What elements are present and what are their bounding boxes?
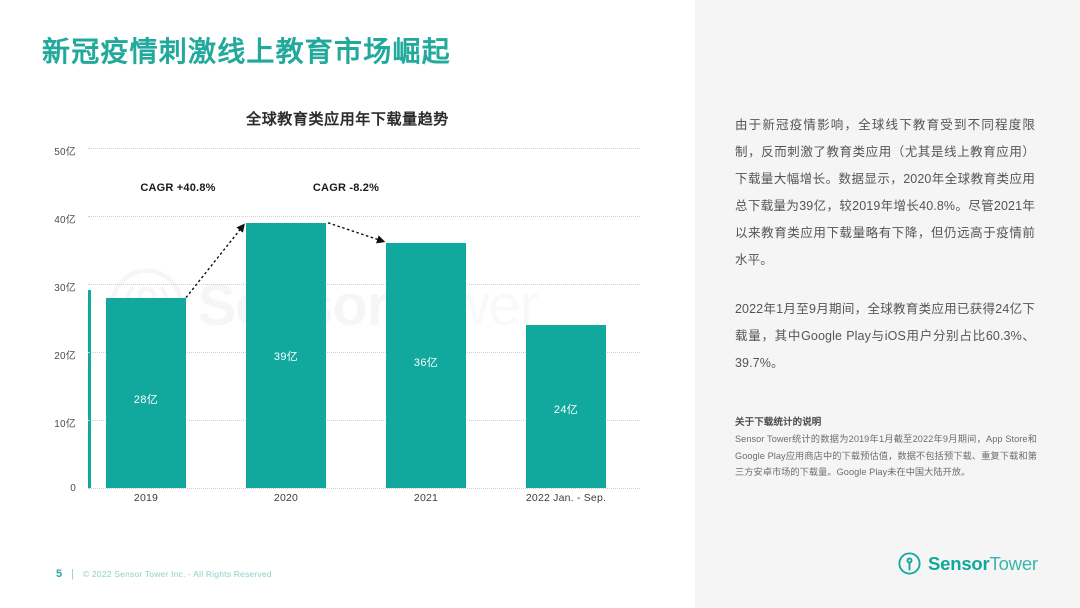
cagr-connector-arrows	[88, 148, 640, 488]
cagr-annotation-2019-2020: CAGR +40.8%	[98, 182, 258, 194]
y-tick-label: 10亿	[30, 415, 76, 430]
sensor-tower-logo-icon	[898, 552, 921, 575]
right-side-panel: 由于新冠疫情影响，全球线下教育受到不同程度限制，反而刺激了教育类应用（尤其是线上…	[695, 0, 1080, 608]
y-tick-label: 20亿	[30, 347, 76, 362]
y-tick-label: 40亿	[30, 211, 76, 226]
slide-footer: 5 | © 2022 Sensor Tower Inc. - All Right…	[56, 568, 272, 580]
page-number: 5	[56, 568, 62, 580]
copyright-text: © 2022 Sensor Tower Inc. - All Rights Re…	[83, 569, 272, 579]
slide-root: 新冠疫情刺激线上教育市场崛起 全球教育类应用年下载量趋势 SensorTower…	[0, 0, 1080, 608]
x-tick-label-2022: 2022 Jan. - Sep.	[486, 492, 646, 504]
cagr-annotation-2020-2021: CAGR -8.2%	[266, 182, 426, 194]
logo-text-bold: Sensor	[928, 553, 990, 574]
panel-body-text: 由于新冠疫情影响，全球线下教育受到不同程度限制，反而刺激了教育类应用（尤其是线上…	[735, 112, 1035, 377]
x-tick-label-2020: 2020	[206, 492, 366, 504]
logo-text-light: Tower	[990, 553, 1038, 574]
footnote-block: 关于下载统计的说明 Sensor Tower统计的数据为2019年1月截至202…	[735, 415, 1037, 481]
sensor-tower-logo: SensorTower	[898, 552, 1038, 575]
y-tick-label: 50亿	[30, 143, 76, 158]
x-tick-label-2021: 2021	[346, 492, 506, 504]
logo-text: SensorTower	[928, 553, 1038, 575]
y-tick-label: 30亿	[30, 279, 76, 294]
footnote-title: 关于下载统计的说明	[735, 415, 1037, 431]
gridline	[88, 488, 640, 489]
panel-paragraph-1: 由于新冠疫情影响，全球线下教育受到不同程度限制，反而刺激了教育类应用（尤其是线上…	[735, 112, 1035, 274]
chart-title: 全球教育类应用年下载量趋势	[0, 108, 695, 129]
arrow-2020-2021	[328, 223, 384, 242]
arrow-2019-2020	[186, 225, 244, 298]
panel-paragraph-2: 2022年1月至9月期间，全球教育类应用已获得24亿下载量，其中Google P…	[735, 296, 1035, 377]
page-title: 新冠疫情刺激线上教育市场崛起	[42, 30, 451, 70]
x-tick-label-2019: 2019	[66, 492, 226, 504]
footer-separator: |	[71, 568, 74, 580]
footnote-body: Sensor Tower统计的数据为2019年1月截至2022年9月期间，App…	[735, 431, 1037, 481]
chart-plot-area: 28亿 39亿 36亿 24亿	[88, 148, 640, 488]
